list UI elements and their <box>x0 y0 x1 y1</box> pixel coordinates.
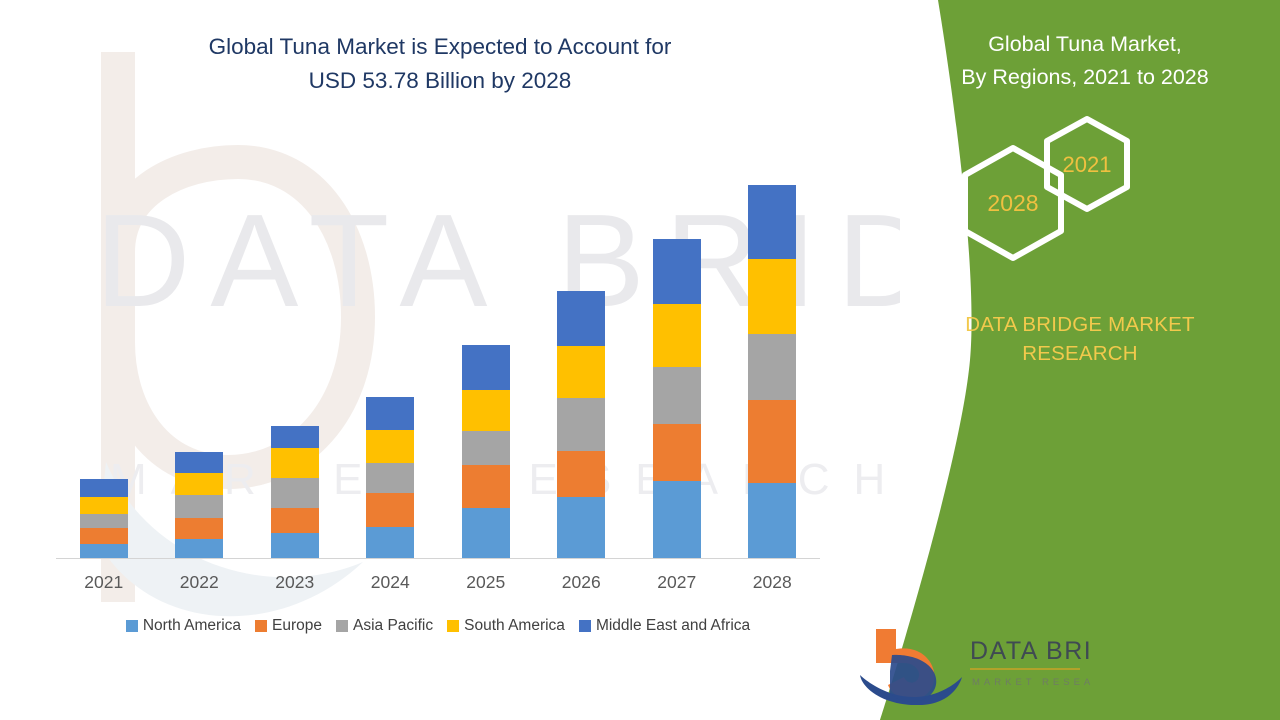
company-logo: DATA BRIDGE MARKET RESEARCH <box>852 615 1092 705</box>
chart-legend: North AmericaEuropeAsia PacificSouth Ame… <box>56 617 820 635</box>
bar-segment[interactable] <box>80 497 128 514</box>
bar-segment[interactable] <box>748 400 796 483</box>
bar-segment[interactable] <box>462 465 510 508</box>
x-axis-label: 2026 <box>534 572 630 593</box>
bar-segment[interactable] <box>175 518 223 539</box>
x-axis-line <box>56 558 820 559</box>
bar-segment[interactable] <box>748 259 796 334</box>
bar-segment[interactable] <box>462 508 510 558</box>
legend-swatch-icon <box>126 620 138 632</box>
bar-column[interactable] <box>725 160 821 558</box>
panel-title-line2: By Regions, 2021 to 2028 <box>910 61 1260 94</box>
bar-segment[interactable] <box>366 397 414 430</box>
legend-label: Asia Pacific <box>353 617 433 635</box>
bar-segment[interactable] <box>462 431 510 465</box>
bar-column[interactable] <box>629 160 725 558</box>
legend-item[interactable]: Asia Pacific <box>336 617 433 635</box>
bar-column[interactable] <box>438 160 534 558</box>
legend-label: North America <box>143 617 241 635</box>
brand-name-line1: DATA BRIDGE MARKET <box>890 310 1270 339</box>
bar-segment[interactable] <box>366 493 414 527</box>
bar-segment[interactable] <box>748 483 796 558</box>
bar-segment[interactable] <box>80 544 128 558</box>
legend-label: Europe <box>272 617 322 635</box>
bar-segment[interactable] <box>557 291 605 346</box>
bar-column[interactable] <box>56 160 152 558</box>
legend-item[interactable]: North America <box>126 617 241 635</box>
legend-item[interactable]: Europe <box>255 617 322 635</box>
bar-segment[interactable] <box>80 514 128 528</box>
bar-segment[interactable] <box>653 367 701 424</box>
bar-segment[interactable] <box>271 508 319 533</box>
bar-segment[interactable] <box>366 430 414 463</box>
x-axis-label: 2023 <box>247 572 343 593</box>
infographic-slide: DATA BRIDGE MARKET RESEARCH Global Tuna … <box>0 0 1280 720</box>
bar-segment[interactable] <box>462 345 510 390</box>
chart-plot-area <box>56 160 820 559</box>
bar-stack <box>557 291 605 558</box>
x-axis-label: 2022 <box>152 572 248 593</box>
logo-sub-text: MARKET RESEARCH <box>972 677 1092 688</box>
x-axis-label: 2028 <box>725 572 821 593</box>
hexagon-2028-label: 2028 <box>987 190 1038 216</box>
chart-title: Global Tuna Market is Expected to Accoun… <box>110 30 770 98</box>
bar-segment[interactable] <box>557 398 605 451</box>
bar-segment[interactable] <box>80 528 128 544</box>
brand-name-line2: RESEARCH <box>890 339 1270 368</box>
bar-column[interactable] <box>247 160 343 558</box>
bar-stack <box>271 426 319 558</box>
bar-segment[interactable] <box>748 185 796 259</box>
bar-segment[interactable] <box>80 479 128 497</box>
panel-title-line1: Global Tuna Market, <box>910 28 1260 61</box>
bar-segment[interactable] <box>175 473 223 495</box>
legend-item[interactable]: South America <box>447 617 565 635</box>
bar-stack <box>462 345 510 558</box>
bar-segment[interactable] <box>557 346 605 398</box>
bar-segment[interactable] <box>462 390 510 431</box>
chart-title-line2: USD 53.78 Billion by 2028 <box>110 64 770 98</box>
brand-panel: Global Tuna Market, By Regions, 2021 to … <box>840 0 1280 720</box>
legend-swatch-icon <box>255 620 267 632</box>
bar-stack <box>653 239 701 558</box>
bar-column[interactable] <box>534 160 630 558</box>
bar-segment[interactable] <box>366 463 414 493</box>
bar-stack <box>748 185 796 558</box>
bar-column[interactable] <box>152 160 248 558</box>
brand-name: DATA BRIDGE MARKET RESEARCH <box>890 310 1270 368</box>
chart-title-line1: Global Tuna Market is Expected to Accoun… <box>110 30 770 64</box>
hexagon-badges: 2028 2021 <box>895 115 1235 310</box>
bar-segment[interactable] <box>271 448 319 478</box>
bar-group <box>56 160 820 558</box>
x-axis-label: 2025 <box>438 572 534 593</box>
logo-main-text: DATA BRIDGE <box>970 637 1092 665</box>
bar-segment[interactable] <box>366 527 414 558</box>
legend-swatch-icon <box>447 620 459 632</box>
legend-item[interactable]: Middle East and Africa <box>579 617 750 635</box>
legend-label: South America <box>464 617 565 635</box>
x-axis-label: 2024 <box>343 572 439 593</box>
bar-segment[interactable] <box>653 239 701 304</box>
bar-segment[interactable] <box>271 478 319 508</box>
bar-stack <box>175 452 223 558</box>
bar-segment[interactable] <box>271 533 319 558</box>
bar-stack <box>366 397 414 558</box>
bar-segment[interactable] <box>653 304 701 367</box>
bar-stack <box>80 479 128 558</box>
bar-segment[interactable] <box>175 539 223 558</box>
legend-label: Middle East and Africa <box>596 617 750 635</box>
panel-title: Global Tuna Market, By Regions, 2021 to … <box>840 28 1280 94</box>
x-axis-labels: 20212022202320242025202620272028 <box>56 572 820 593</box>
bar-segment[interactable] <box>653 481 701 558</box>
bar-segment[interactable] <box>175 495 223 518</box>
x-axis-label: 2027 <box>629 572 725 593</box>
bar-segment[interactable] <box>175 452 223 473</box>
hexagon-2021-label: 2021 <box>1063 152 1112 177</box>
legend-swatch-icon <box>336 620 348 632</box>
bar-segment[interactable] <box>557 497 605 558</box>
bar-segment[interactable] <box>557 451 605 497</box>
legend-swatch-icon <box>579 620 591 632</box>
bar-segment[interactable] <box>271 426 319 448</box>
bar-segment[interactable] <box>653 424 701 481</box>
x-axis-label: 2021 <box>56 572 152 593</box>
bar-column[interactable] <box>343 160 439 558</box>
bar-segment[interactable] <box>748 334 796 400</box>
